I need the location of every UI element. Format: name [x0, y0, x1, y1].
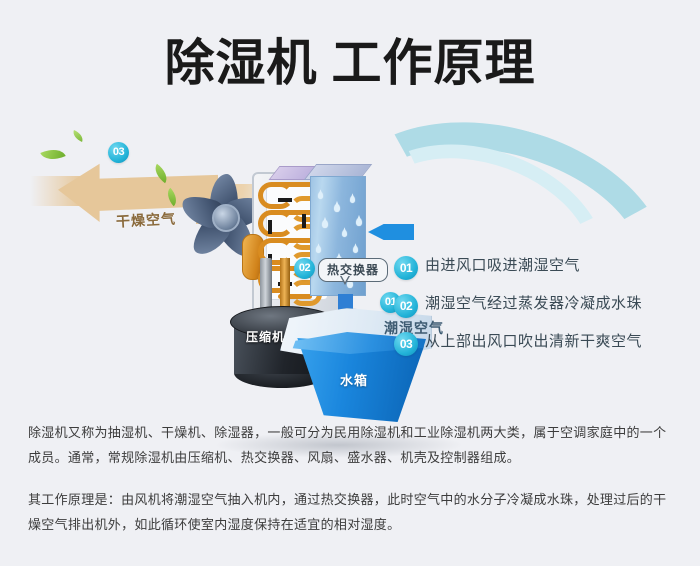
- water-droplet: [316, 246, 321, 253]
- leaf-icon: [71, 130, 85, 142]
- heat-exchanger-callout: 热交换器: [318, 258, 388, 282]
- legend-badge-03: 03: [394, 332, 418, 356]
- water-droplet: [342, 230, 347, 237]
- water-droplet: [356, 218, 362, 226]
- refrigerant-arrow: [278, 198, 292, 202]
- refrigerant-arrow: [268, 220, 272, 234]
- water-tank-label: 水箱: [340, 370, 368, 389]
- water-droplet: [334, 204, 340, 212]
- intake-airflow-arrow: [368, 224, 414, 240]
- description-paragraph-1: 除湿机又称为抽湿机、干燥机、除湿器，一般可分为民用除湿机和工业除湿机两大类，属于…: [28, 420, 676, 470]
- compressor-label: 压缩机: [246, 328, 285, 345]
- legend-text-02: 潮湿空气经过蒸发器冷凝成水珠: [425, 293, 642, 315]
- dry-air-label: 干燥空气: [116, 208, 177, 231]
- copper-pipe: [278, 238, 312, 243]
- dry-air-trail-left: [30, 176, 82, 206]
- water-droplet: [318, 192, 323, 199]
- refrigerant-arrow: [302, 214, 306, 228]
- legend-item: 01 由进风口吸进潮湿空气: [394, 255, 674, 293]
- leaf-icon: [40, 144, 65, 165]
- legend-text-01: 由进风口吸进潮湿空气: [425, 255, 580, 277]
- legend-badge-02: 02: [394, 294, 418, 318]
- page-root: 除湿机工作原理 干燥空气 03: [0, 0, 700, 566]
- legend-item: 02 潮湿空气经过蒸发器冷凝成水珠: [394, 293, 674, 331]
- copper-pipe: [278, 182, 312, 187]
- water-droplet: [353, 246, 358, 253]
- legend-text-03: 从上部出风口吹出清新干爽空气: [425, 331, 642, 353]
- water-droplet: [322, 220, 328, 228]
- water-droplet: [350, 196, 355, 203]
- page-title-part2: 工作原理: [332, 35, 536, 91]
- legend-badge-01: 01: [394, 256, 418, 280]
- page-title-part1: 除湿机: [165, 35, 318, 91]
- copper-pipe: [278, 210, 312, 215]
- badge-03-dry-air: 03: [108, 142, 129, 163]
- legend-list: 01 由进风口吸进潮湿空气 02 潮湿空气经过蒸发器冷凝成水珠 03 从上部出风…: [394, 255, 674, 369]
- badge-02-heat-exchanger: 02: [294, 258, 315, 279]
- callout-pointer-inner-icon: [341, 275, 349, 282]
- description-paragraph-2: 其工作原理是：由风机将潮湿空气抽入机内，通过热交换器，此时空气中的水分子冷凝成水…: [28, 487, 676, 537]
- legend-item: 03 从上部出风口吹出清新干爽空气: [394, 331, 674, 369]
- page-title: 除湿机工作原理: [0, 34, 700, 92]
